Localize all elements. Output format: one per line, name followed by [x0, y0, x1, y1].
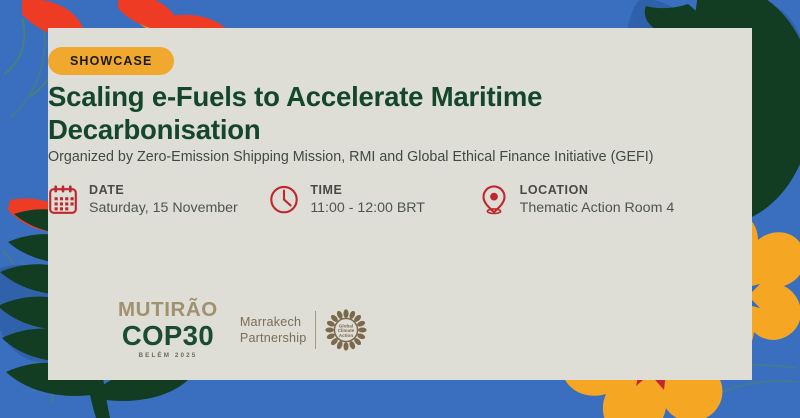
marrakech-line-1: Marrakech	[240, 314, 307, 330]
page-title: Scaling e-Fuels to Accelerate Maritime D…	[48, 80, 668, 147]
emblem-line-3: Action	[339, 333, 353, 338]
date-value: Saturday, 15 November	[89, 199, 238, 218]
marrakech-line-2: Partnership	[240, 330, 307, 346]
event-detail-date: DATE Saturday, 15 November	[48, 182, 269, 219]
clock-icon	[269, 184, 299, 215]
marrakech-partnership-logo: Marrakech Partnership	[240, 309, 368, 351]
organizers-text: Organized by Zero-Emission Shipping Miss…	[48, 148, 698, 167]
cop30-text: COP30	[118, 322, 218, 350]
location-label: LOCATION	[520, 183, 675, 197]
date-label: DATE	[89, 183, 238, 197]
title-line-2: Decarbonisation	[48, 113, 668, 146]
flower-edge	[786, 42, 800, 140]
event-detail-location: LOCATION Thematic Action Room 4	[479, 182, 698, 219]
event-poster: SHOWCASE Scaling e-Fuels to Accelerate M…	[0, 0, 800, 418]
event-details-row: DATE Saturday, 15 November TIME 11:00 - …	[48, 182, 698, 219]
logo-divider	[315, 311, 316, 349]
cop30-logo: MUTIRÃO COP30 BELÉM 2025	[118, 300, 218, 359]
logo-strip: MUTIRÃO COP30 BELÉM 2025 Marrakech Partn…	[118, 300, 367, 359]
cop30-mutirao-text: MUTIRÃO	[118, 300, 218, 321]
calendar-icon	[48, 184, 78, 215]
time-value: 11:00 - 12:00 BRT	[310, 199, 425, 218]
map-pin-icon	[479, 184, 509, 215]
time-label: TIME	[310, 183, 425, 197]
marrakech-partnership-text: Marrakech Partnership	[240, 314, 307, 346]
location-value: Thematic Action Room 4	[520, 199, 675, 218]
global-climate-action-emblem: Global Climate Action	[325, 309, 367, 351]
showcase-badge: SHOWCASE	[48, 47, 174, 75]
time-text-group: TIME 11:00 - 12:00 BRT	[310, 182, 425, 219]
event-detail-time: TIME 11:00 - 12:00 BRT	[269, 182, 478, 219]
location-text-group: LOCATION Thematic Action Room 4	[520, 182, 675, 219]
date-text-group: DATE Saturday, 15 November	[89, 182, 238, 219]
title-line-1: Scaling e-Fuels to Accelerate Maritime	[48, 80, 668, 113]
cop30-belem-text: BELÉM 2025	[118, 353, 218, 359]
